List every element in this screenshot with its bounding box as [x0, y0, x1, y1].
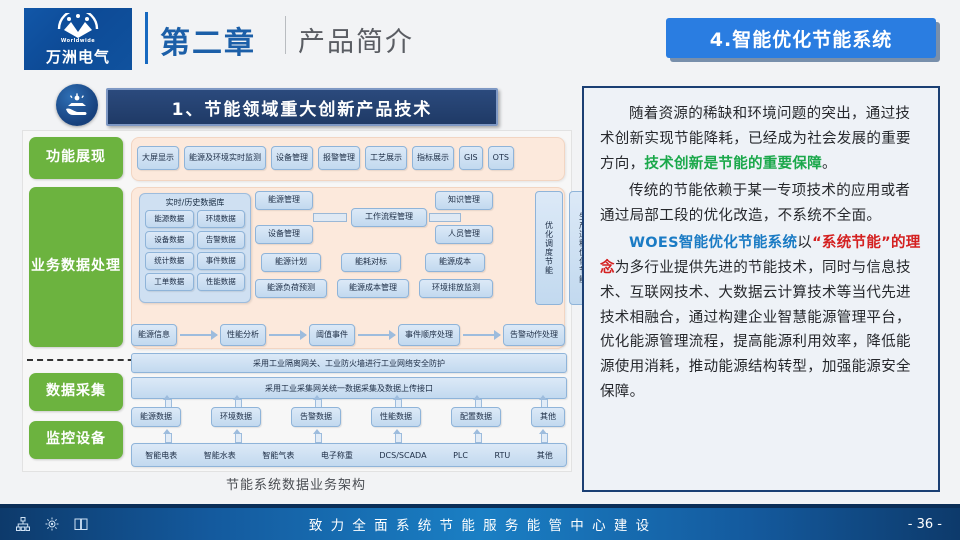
device-label: 智能气表 [262, 450, 294, 461]
arrow-up-icon [313, 429, 322, 441]
layer-label-function: 功能展现 [29, 137, 123, 179]
arrow-up-icon [313, 395, 322, 407]
device-label: DCS/SCADA [379, 451, 426, 460]
db-item: 环境数据 [197, 210, 246, 228]
arrow-up-icon [393, 395, 402, 407]
collection-gateway-band: 采用工业采集网关统一数据采集及数据上传接口 [131, 377, 567, 399]
db-item: 设备数据 [145, 231, 194, 249]
handshake-energy-icon [56, 84, 98, 126]
p3-text-b: 以 [797, 235, 812, 251]
arrow-up-icon [163, 395, 172, 407]
function-module-row: 大屏显示 能源及环境实时监测 设备管理 报警管理 工艺展示 指标展示 GIS O… [137, 143, 557, 173]
database-group: 实时/历史数据库 能源数据 环境数据 设备数据 告警数据 统计数据 事件数据 工… [139, 193, 251, 303]
layer-label-collection: 数据采集 [29, 373, 123, 411]
arrow-up-icon [473, 429, 482, 441]
arrow-up-icon [163, 429, 172, 441]
vertical-module-optimize-dispatch: 优化调度节能 [535, 191, 563, 305]
flow-box: 阈值事件 [309, 324, 355, 346]
flow-box: 事件顺序处理 [398, 324, 460, 346]
layer-label-devices: 监控设备 [29, 421, 123, 459]
device-label: 智能水表 [204, 450, 236, 461]
p3-text-c: 为多行业提供先进的节能技术，同时与信息技术、互联网技术、大数据云计算技术等当代先… [600, 260, 911, 401]
diagram-caption: 节能系统数据业务架构 [22, 474, 570, 493]
module-box: 能源成本管理 [337, 279, 409, 298]
p3-product-name: WOES智能优化节能系统 [629, 235, 797, 251]
module-box: 工艺展示 [365, 146, 407, 170]
layer-label-business: 业务数据处理 [29, 187, 123, 347]
arrow-up-icon [473, 395, 482, 407]
data-box: 其他 [531, 407, 565, 427]
arrow-up-icon [233, 429, 242, 441]
db-item: 事件数据 [197, 252, 246, 270]
flow-arrow-left-icon [429, 213, 461, 222]
event-flow-row: 能源信息 性能分析 阈值事件 事件顺序处理 告警动作处理 [131, 323, 565, 347]
data-type-row: 能源数据 环境数据 告警数据 性能数据 配置数据 其他 [131, 407, 565, 427]
vertical-label: 优化调度节能 [544, 221, 555, 275]
business-module-cluster: 能源管理 工作流程管理 知识管理 设备管理 人员管理 能源计划 能耗对标 能源成… [255, 191, 529, 303]
chapter-subtitle: 产品简介 [298, 20, 414, 59]
module-box: OTS [488, 146, 514, 170]
logo-brand: 万洲电气 [46, 46, 110, 67]
device-label: 电子称重 [321, 450, 353, 461]
flow-box: 能源信息 [131, 324, 177, 346]
module-box: GIS [459, 146, 483, 170]
arrow-up-icon [539, 395, 548, 407]
db-item: 能源数据 [145, 210, 194, 228]
module-box: 能源计划 [261, 253, 321, 272]
module-box: 报警管理 [318, 146, 360, 170]
slide-header: Worldwide 万洲电气 第二章 产品简介 4.智能优化节能系统 [0, 0, 960, 76]
module-box: 环境排放监测 [419, 279, 493, 298]
section-title: 1、节能领域重大创新产品技术 [106, 88, 498, 126]
data-box: 告警数据 [291, 407, 341, 427]
arrow-right-icon [180, 334, 217, 336]
device-label: RTU [494, 451, 510, 460]
module-box: 设备管理 [271, 146, 313, 170]
company-logo: Worldwide 万洲电气 [24, 8, 132, 70]
module-box: 工作流程管理 [351, 208, 427, 227]
device-row: 智能电表 智能水表 智能气表 电子称重 DCS/SCADA PLC RTU 其他 [131, 443, 567, 467]
data-box: 性能数据 [371, 407, 421, 427]
paragraph-2: 传统的节能依赖于某一专项技术的应用或者通过局部工段的优化改造，不系统不全面。 [600, 179, 922, 229]
logo-mark-icon [55, 13, 101, 39]
module-box: 人员管理 [435, 225, 493, 244]
section-badge: 4.智能优化节能系统 [666, 18, 936, 58]
chapter-title: 第二章 [160, 18, 256, 62]
database-items: 能源数据 环境数据 设备数据 告警数据 统计数据 事件数据 工单数据 性能数据 [145, 210, 245, 291]
arrow-up-icon [539, 429, 548, 441]
module-box: 指标展示 [412, 146, 454, 170]
section-badge-label: 4.智能优化节能系统 [710, 25, 892, 52]
module-box: 知识管理 [435, 191, 493, 210]
module-box: 大屏显示 [137, 146, 179, 170]
paragraph-3: WOES智能优化节能系统以“系统节能”的理念为多行业提供先进的节能技术，同时与信… [600, 231, 922, 406]
device-label: PLC [453, 451, 468, 460]
module-box: 设备管理 [255, 225, 313, 244]
p1-text-b: 。 [822, 156, 837, 172]
p1-highlight: 技术创新是节能的重要保障 [644, 156, 822, 172]
paragraph-1: 随着资源的稀缺和环境问题的突出，通过技术创新实现节能降耗，已经成为社会发展的重要… [600, 102, 922, 177]
security-gateway-band: 采用工业隔离网关、工业防火墙进行工业网络安全防护 [131, 353, 567, 373]
slide-footer: 致 力 全 面 系 统 节 能 服 务 能 管 中 心 建 设 - 36 - [0, 508, 960, 540]
db-item: 告警数据 [197, 231, 246, 249]
data-box: 配置数据 [451, 407, 501, 427]
flow-box: 性能分析 [220, 324, 266, 346]
chapter-separator [285, 16, 286, 54]
module-box: 能源管理 [255, 191, 313, 210]
flow-box: 告警动作处理 [503, 324, 565, 346]
arrow-right-icon [269, 334, 306, 336]
module-box: 能源及环境实时监测 [184, 146, 266, 170]
db-item: 统计数据 [145, 252, 194, 270]
arrow-up-icon [393, 429, 402, 441]
header-divider [145, 12, 148, 64]
module-box: 能源成本 [425, 253, 485, 272]
data-box: 能源数据 [131, 407, 181, 427]
module-box: 能耗对标 [341, 253, 401, 272]
data-box: 环境数据 [211, 407, 261, 427]
db-item: 工单数据 [145, 273, 194, 291]
page-number: - 36 - [908, 508, 942, 540]
arrow-right-icon [463, 334, 500, 336]
flow-arrow-right-icon [313, 213, 347, 222]
database-title: 实时/历史数据库 [140, 197, 250, 208]
architecture-diagram: 功能展现 业务数据处理 数据采集 监控设备 大屏显示 能源及环境实时监测 设备管… [22, 130, 572, 472]
section-title-label: 1、节能领域重大创新产品技术 [172, 95, 433, 120]
db-item: 性能数据 [197, 273, 246, 291]
arrow-up-icon [233, 395, 242, 407]
device-label: 智能电表 [145, 450, 177, 461]
description-panel: 随着资源的稀缺和环境问题的突出，通过技术创新实现节能降耗，已经成为社会发展的重要… [582, 86, 940, 492]
device-label: 其他 [537, 450, 553, 461]
footer-slogan: 致 力 全 面 系 统 节 能 服 务 能 管 中 心 建 设 [0, 508, 960, 540]
module-box: 能源负荷预测 [255, 279, 327, 298]
arrow-right-icon [358, 334, 395, 336]
